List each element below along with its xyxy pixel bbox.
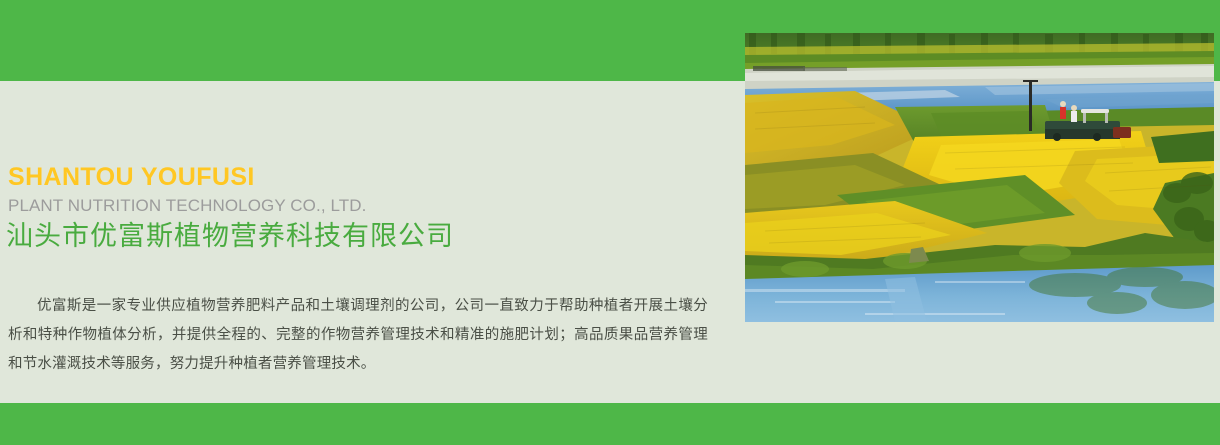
brand-name-chinese: 汕头市优富斯植物营养科技有限公司 [6,220,454,253]
brand-subtitle-english: PLANT NUTRITION TECHNOLOGY CO., LTD. [8,197,366,214]
about-section: SHANTOU YOUFUSI PLANT NUTRITION TECHNOLO… [0,81,745,403]
brand-name-english: SHANTOU YOUFUSI [8,165,255,190]
page-root: SHANTOU YOUFUSI PLANT NUTRITION TECHNOLO… [0,0,1220,445]
farmland-photo-illustration [745,33,1214,322]
company-intro-paragraph: 优富斯是一家专业供应植物营养肥料产品和土壤调理剂的公司，公司一直致力于帮助种植者… [8,292,708,379]
bottom-green-band [0,403,1220,445]
farmland-photo [745,33,1214,322]
